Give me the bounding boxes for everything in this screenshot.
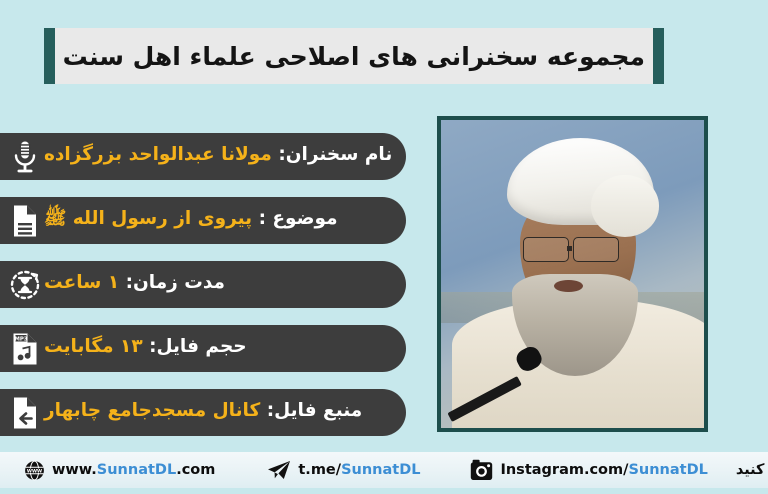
info-row-topic: موضوع : پیروی از رسول الله ﷺ — [0, 197, 406, 244]
footer-website-brand: SunnatDL — [97, 462, 176, 478]
photo-glasses-bridge — [567, 246, 572, 250]
photo-glasses-right — [573, 237, 620, 262]
lecture-info-card: مجموعه سخنرانی های اصلاحی علماء اهل سنت — [0, 0, 768, 494]
footer-instagram-text: Instagram.com/SunnatDL — [500, 463, 707, 478]
footer-bar: WWW www.SunnatDL.com t.me/SunnatDL — [0, 452, 768, 488]
footer-telegram-text: t.me/SunnatDL — [298, 463, 420, 478]
info-row-text-duration: مدت زمان: ۱ ساعت — [44, 274, 225, 295]
info-row-text-source: منبع فایل: کانال مسجدجامع چابهار — [44, 402, 362, 423]
photo-glasses-left — [523, 237, 570, 262]
info-rows: نام سخنران: مولانا عبدالواحد بزرگزاده مو… — [0, 133, 406, 436]
info-label-topic: موضوع : — [259, 208, 338, 229]
info-label-speaker: نام سخنران: — [278, 144, 392, 165]
footer-website-text: www.SunnatDL.com — [52, 463, 215, 478]
microphone-icon — [6, 138, 44, 176]
www-globe-icon: WWW — [24, 460, 45, 481]
telegram-icon — [267, 460, 291, 480]
title-panel: مجموعه سخنرانی های اصلاحی علماء اهل سنت — [55, 28, 653, 84]
speaker-photo — [437, 116, 708, 432]
info-row-duration: مدت زمان: ۱ ساعت — [0, 261, 406, 308]
footer-instagram-prefix: Instagram.com/ — [500, 462, 628, 478]
instagram-icon — [470, 459, 493, 481]
document-icon — [6, 202, 44, 240]
footer-website-suffix: .com — [176, 462, 215, 478]
info-row-speaker: نام سخنران: مولانا عبدالواحد بزرگزاده — [0, 133, 406, 180]
photo-turban-fold — [591, 175, 659, 237]
info-label-duration: مدت زمان: — [126, 272, 225, 293]
info-row-source: منبع فایل: کانال مسجدجامع چابهار — [0, 389, 406, 436]
info-value-filesize: ۱۳ مگابایت — [44, 336, 143, 357]
footer-follow-rest: را دنبال کنید — [736, 462, 768, 478]
svg-text:WWW: WWW — [27, 468, 42, 474]
footer-telegram-prefix: t.me/ — [298, 462, 341, 478]
info-row-text-filesize: حجم فایل: ۱۳ مگابایت — [44, 338, 247, 359]
info-label-filesize: حجم فایل: — [149, 336, 247, 357]
title-accent-bar-left — [44, 28, 55, 84]
info-row-text-topic: موضوع : پیروی از رسول الله ﷺ — [44, 210, 338, 231]
info-value-topic: پیروی از رسول الله ﷺ — [44, 208, 252, 229]
info-row-filesize: MP3 حجم فایل: ۱۳ مگابایت — [0, 325, 406, 372]
footer-follow-text: سنت دانلود را دنبال کنید — [736, 463, 768, 478]
speaker-photo-image — [441, 120, 704, 428]
footer-website-prefix: www. — [52, 462, 97, 478]
hourglass-duration-icon — [6, 266, 44, 304]
footer-follow-line: سنت دانلود را دنبال کنید — [736, 463, 768, 478]
info-value-speaker: مولانا عبدالواحد بزرگزاده — [44, 144, 272, 165]
svg-text:MP3: MP3 — [14, 336, 27, 342]
mp3-file-icon: MP3 — [6, 330, 44, 368]
footer-website-link[interactable]: WWW www.SunnatDL.com — [24, 460, 215, 481]
info-value-source: کانال مسجدجامع چابهار — [44, 400, 260, 421]
info-label-source: منبع فایل: — [267, 400, 363, 421]
footer-instagram-link[interactable]: Instagram.com/SunnatDL — [470, 459, 707, 481]
page-title: مجموعه سخنرانی های اصلاحی علماء اهل سنت — [63, 42, 645, 71]
footer-instagram-brand: SunnatDL — [628, 462, 707, 478]
info-row-text-speaker: نام سخنران: مولانا عبدالواحد بزرگزاده — [44, 146, 392, 167]
info-value-duration: ۱ ساعت — [44, 272, 119, 293]
file-source-icon — [6, 394, 44, 432]
title-accent-bar-right — [653, 28, 664, 84]
footer-telegram-link[interactable]: t.me/SunnatDL — [267, 460, 420, 480]
page-title-banner: مجموعه سخنرانی های اصلاحی علماء اهل سنت — [92, 28, 664, 84]
footer-telegram-brand: SunnatDL — [341, 462, 420, 478]
